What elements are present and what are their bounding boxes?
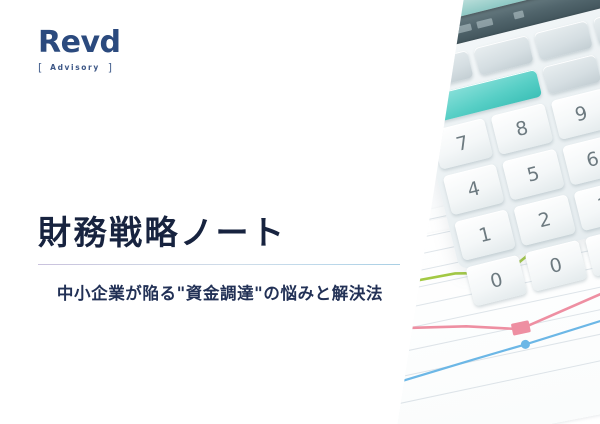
page-subtitle: 中小企業が陥る"資金調達"の悩みと解決法 bbox=[38, 280, 402, 304]
chart-marker-blue-mid bbox=[520, 339, 531, 350]
calculator-key-8: 8 bbox=[491, 103, 553, 155]
display-segment bbox=[476, 18, 493, 29]
chart-marker-pink-mid bbox=[511, 320, 531, 335]
display-segment bbox=[513, 10, 524, 19]
calculator-key-9: 9 bbox=[550, 88, 600, 140]
calculator-key bbox=[533, 20, 592, 60]
display-segment bbox=[455, 23, 472, 34]
calculator-key bbox=[542, 54, 600, 94]
chart-series-blue bbox=[380, 297, 600, 388]
calculator-key bbox=[593, 5, 600, 45]
brand-logo: Revd [ Advisory ] bbox=[38, 28, 120, 73]
bracket-right-icon: ] bbox=[108, 62, 112, 73]
logo-wordmark: Revd bbox=[38, 28, 120, 58]
calculator-key-3: 3 bbox=[573, 179, 600, 231]
calculator-key-2: 2 bbox=[513, 194, 575, 246]
calculator-key bbox=[414, 50, 473, 90]
calculator-key-4: 4 bbox=[443, 163, 505, 215]
calculator-key-7: 7 bbox=[431, 118, 493, 170]
title-divider bbox=[38, 264, 400, 266]
calculator-key-6: 6 bbox=[562, 134, 600, 186]
logo-tagline: Advisory bbox=[45, 64, 104, 72]
calculator-key-decimal: . bbox=[584, 225, 600, 277]
photo-background: 7 8 9 ÷ 4 5 6 × 1 2 3 − 0 0 . + bbox=[380, 0, 600, 424]
logo-tagline-row: [ Advisory ] bbox=[38, 62, 112, 73]
hero-photo: 7 8 9 ÷ 4 5 6 × 1 2 3 − 0 0 . + bbox=[380, 0, 600, 424]
title-block: 財務戦略ノート 中小企業が陥る"資金調達"の悩みと解決法 bbox=[38, 214, 402, 304]
calculator: 7 8 9 ÷ 4 5 6 × 1 2 3 − 0 0 . + bbox=[395, 0, 600, 270]
slide-canvas: 7 8 9 ÷ 4 5 6 × 1 2 3 − 0 0 . + bbox=[0, 0, 600, 424]
calculator-key-5: 5 bbox=[502, 149, 564, 201]
calculator-key bbox=[474, 35, 533, 75]
page-title: 財務戦略ノート bbox=[38, 214, 402, 252]
calculator-key-1: 1 bbox=[454, 209, 516, 261]
bracket-left-icon: [ bbox=[38, 62, 42, 73]
display-segment bbox=[434, 29, 451, 40]
